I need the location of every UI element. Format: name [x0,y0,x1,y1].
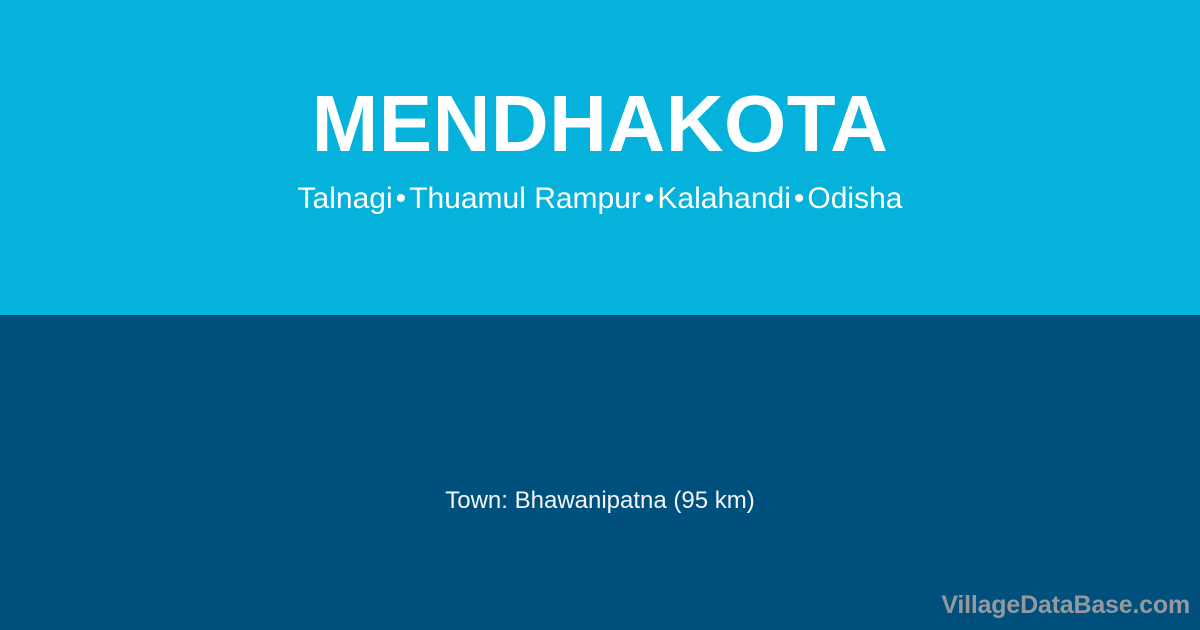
breadcrumb-separator-1: • [393,182,410,215]
breadcrumb-item-panchayat: Talnagi [298,182,393,215]
nearest-town-text: Town: Bhawanipatna (95 km) [0,487,1200,515]
breadcrumb-separator-2: • [641,182,658,215]
village-info-card: MENDHAKOTA Talnagi•Thuamul Rampur•Kalaha… [0,0,1200,630]
breadcrumb-item-state: Odisha [807,182,902,215]
details-band: Town: Bhawanipatna (95 km) [0,315,1200,630]
breadcrumb: Talnagi•Thuamul Rampur•Kalahandi•Odisha [0,182,1200,216]
breadcrumb-separator-3: • [791,182,808,215]
breadcrumb-item-block: Thuamul Rampur [409,182,641,215]
site-watermark: VillageDataBase.com [941,591,1190,620]
page-title: MENDHAKOTA [0,84,1200,164]
breadcrumb-item-district: Kalahandi [657,182,790,215]
header-band: MENDHAKOTA Talnagi•Thuamul Rampur•Kalaha… [0,0,1200,315]
